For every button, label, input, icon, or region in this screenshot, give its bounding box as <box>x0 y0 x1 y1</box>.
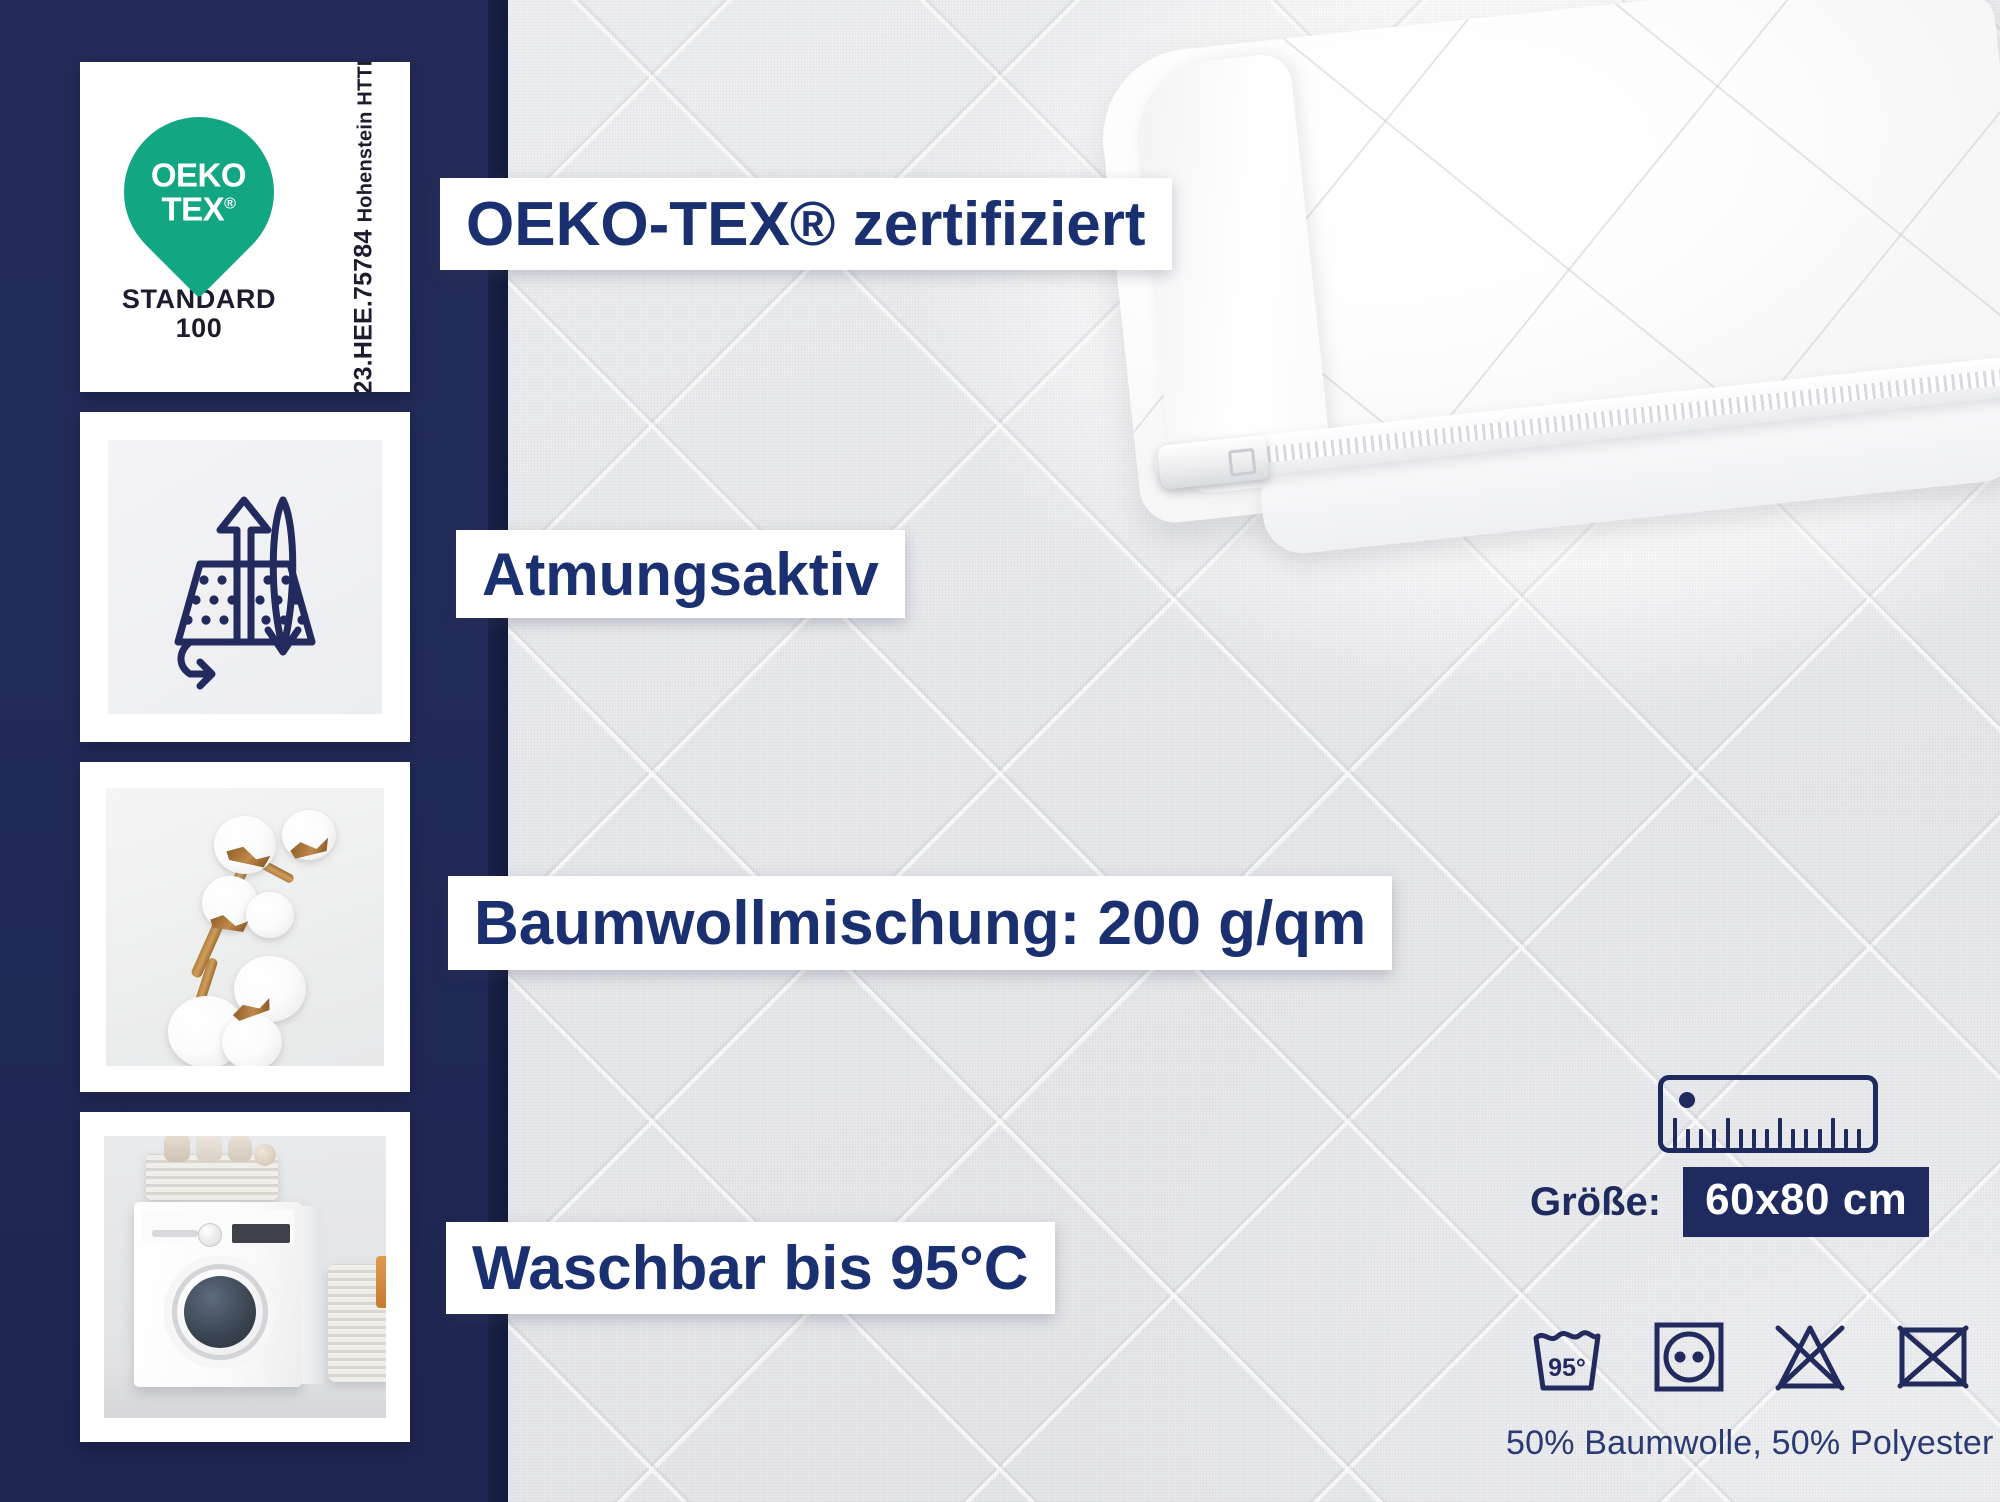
machine-door <box>164 1256 276 1368</box>
folded-towel <box>228 1136 252 1162</box>
wash-temperature-text: 95° <box>1548 1354 1586 1382</box>
registered-mark: ® <box>225 195 236 212</box>
control-panel <box>142 1210 294 1244</box>
feature-tile-washable <box>80 1112 410 1442</box>
oeko-tex-certificate-icon: OEKO TEX® STANDARD 100 23.HEE.75784 Hohe… <box>80 62 410 392</box>
door-glass <box>184 1276 256 1348</box>
feature-tile-breathable <box>80 412 410 742</box>
size-block: Größe: 60x80 cm <box>1530 1075 1929 1237</box>
certificate-institute: Hohenstein HTTI <box>355 62 377 222</box>
feature-tile-oeko-tex: OEKO TEX® STANDARD 100 23.HEE.75784 Hohe… <box>80 62 410 392</box>
ruler-icon <box>1658 1075 1878 1153</box>
folded-towel <box>196 1136 222 1162</box>
certificate-number-column: 23.HEE.75784 Hohenstein HTTI <box>318 62 410 392</box>
feature-tile-cotton <box>80 762 410 1092</box>
feature-label-oeko-tex: OEKO-TEX® zertifiziert <box>440 178 1172 270</box>
cotton-boll <box>222 1014 282 1066</box>
infographic-canvas: OEKO TEX® STANDARD 100 23.HEE.75784 Hohe… <box>0 0 2000 1502</box>
detergent-drawer <box>152 1230 198 1237</box>
machine-side-panel <box>302 1206 324 1384</box>
program-dial-icon <box>198 1223 222 1247</box>
size-row: Größe: 60x80 cm <box>1530 1167 1929 1237</box>
feature-label-cotton-blend: Baumwollmischung: 200 g/qm <box>448 876 1392 970</box>
rolled-towel <box>254 1144 276 1166</box>
oeko-logo-line1: OEKO <box>151 158 246 192</box>
cotton-plant-photo <box>106 788 384 1066</box>
size-value-badge: 60x80 cm <box>1683 1167 1929 1237</box>
display-screen <box>232 1224 290 1243</box>
care-symbols-row: 95° <box>1528 1320 1972 1394</box>
cotton-boll <box>246 892 294 938</box>
cotton-boll <box>214 816 276 874</box>
washing-machine-photo <box>104 1136 386 1418</box>
oeko-logo-line2: TEX <box>162 190 225 227</box>
certificate-vertical-text: 23.HEE.75784 Hohenstein HTTI <box>350 62 379 392</box>
feature-label-breathable: Atmungsaktiv <box>456 530 905 618</box>
orange-towel <box>376 1256 386 1308</box>
quilted-pillow-photo <box>1094 0 2000 596</box>
feature-label-washable: Waschbar bis 95°C <box>446 1222 1055 1314</box>
ruler-ticks <box>1673 1114 1861 1148</box>
breathability-arrows-icon <box>120 452 370 702</box>
certificate-number: 23.HEE.75784 <box>350 229 378 392</box>
oeko-tex-droplet-icon: OEKO TEX® <box>93 86 305 298</box>
standard-number: 100 <box>122 314 276 343</box>
oeko-tex-logo: OEKO TEX® STANDARD 100 <box>80 62 318 392</box>
washing-machine-body <box>134 1202 302 1387</box>
ruler-hole-icon <box>1679 1092 1695 1108</box>
folded-towel <box>164 1136 190 1162</box>
do-not-dryclean-icon <box>1894 1320 1972 1394</box>
material-composition-text: 50% Baumwolle, 50% Polyester <box>1506 1424 1994 1463</box>
wash-tub-95-icon: 95° <box>1528 1320 1606 1394</box>
tumble-dry-icon <box>1652 1320 1726 1394</box>
size-label: Größe: <box>1530 1180 1661 1225</box>
do-not-bleach-icon <box>1772 1320 1848 1394</box>
